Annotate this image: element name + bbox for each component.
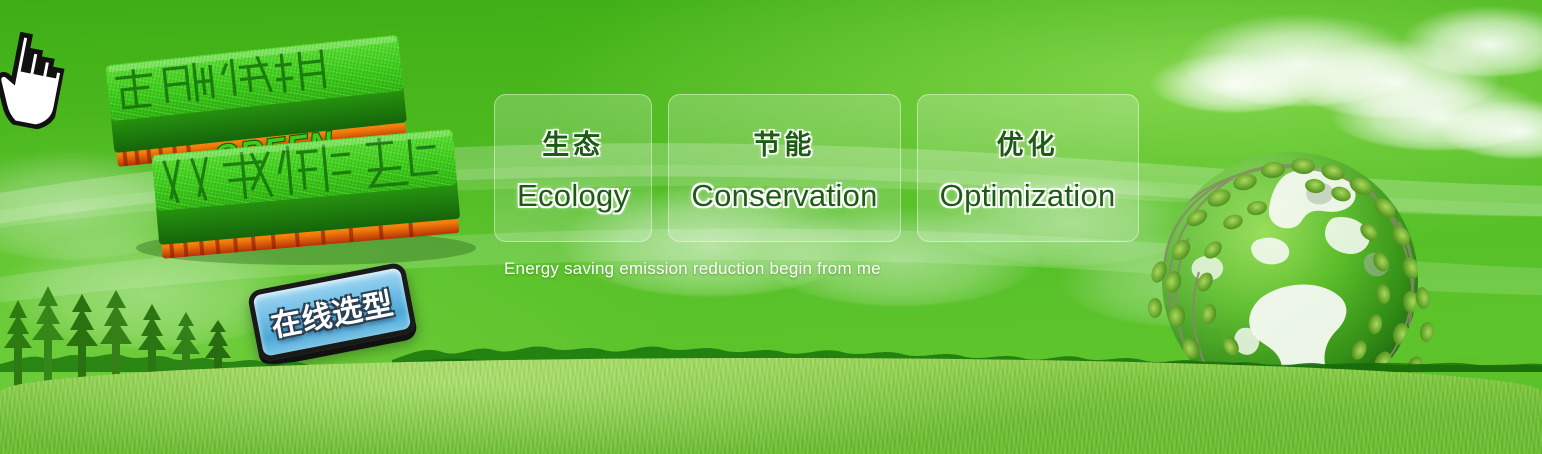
feature-card-en-label: Conservation	[691, 178, 877, 214]
grass-ground	[0, 358, 1542, 454]
eco-banner: GREEN	[0, 0, 1542, 454]
feature-card-en-label: Ecology	[517, 178, 629, 214]
feature-card-en-label: Optimization	[940, 178, 1116, 214]
tagline: Energy saving emission reduction begin f…	[504, 259, 881, 279]
feature-cards: 生态 Ecology 节能 Conservation 优化 Optimizati…	[494, 94, 1139, 242]
feature-card-cn-label: 节能	[754, 123, 816, 162]
feature-card-cn-label: 生态	[542, 123, 604, 162]
feature-card-cn-label: 优化	[997, 123, 1059, 162]
feature-card-conservation[interactable]: 节能 Conservation	[668, 94, 900, 242]
feature-card-ecology[interactable]: 生态 Ecology	[494, 94, 652, 242]
feature-card-optimization[interactable]: 优化 Optimization	[917, 94, 1139, 242]
